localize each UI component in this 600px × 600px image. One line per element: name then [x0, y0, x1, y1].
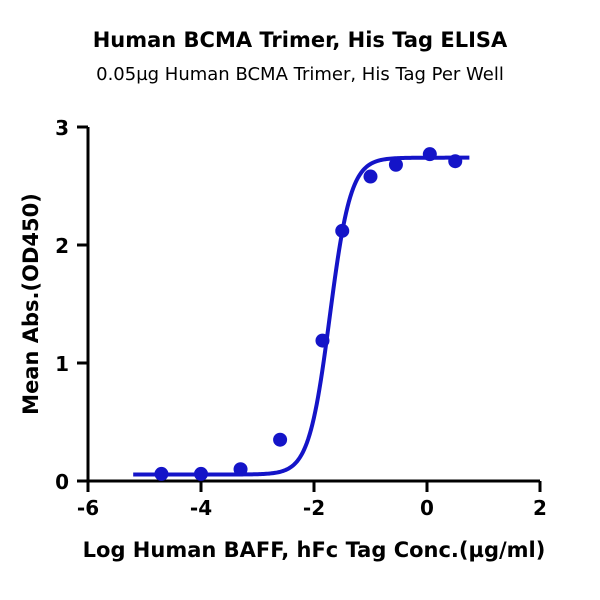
- data-point: [389, 158, 403, 172]
- x-axis-label: Log Human BAFF, hFc Tag Conc.(µg/ml): [83, 538, 546, 562]
- y-tick-label: 3: [55, 116, 69, 140]
- y-tick-label: 1: [55, 352, 69, 376]
- data-point: [273, 433, 287, 447]
- chart-plot-area: -6 -4 -2 0 2 0 1 2 3 Mean Abs.(OD450) Lo…: [0, 0, 600, 600]
- data-point: [364, 170, 378, 184]
- x-tick-label: -4: [190, 496, 212, 520]
- data-point: [315, 334, 329, 348]
- data-points: [154, 147, 462, 481]
- chart-page: Human BCMA Trimer, His Tag ELISA 0.05µg …: [0, 0, 600, 600]
- y-tick-label: 2: [55, 234, 69, 258]
- y-ticks: [77, 127, 88, 481]
- y-axis-label: Mean Abs.(OD450): [19, 193, 43, 415]
- y-tick-label: 0: [55, 470, 69, 494]
- data-point: [448, 154, 462, 168]
- x-tick-label: 0: [420, 496, 434, 520]
- data-point: [194, 467, 208, 481]
- data-point: [423, 147, 437, 161]
- axes: [88, 127, 540, 481]
- data-point: [234, 462, 248, 476]
- x-tick-label: 2: [533, 496, 547, 520]
- fit-curve: [133, 158, 469, 475]
- x-tick-label: -6: [77, 496, 99, 520]
- data-point: [154, 467, 168, 481]
- data-point: [335, 224, 349, 238]
- x-ticks: [88, 481, 540, 492]
- x-tick-label: -2: [303, 496, 325, 520]
